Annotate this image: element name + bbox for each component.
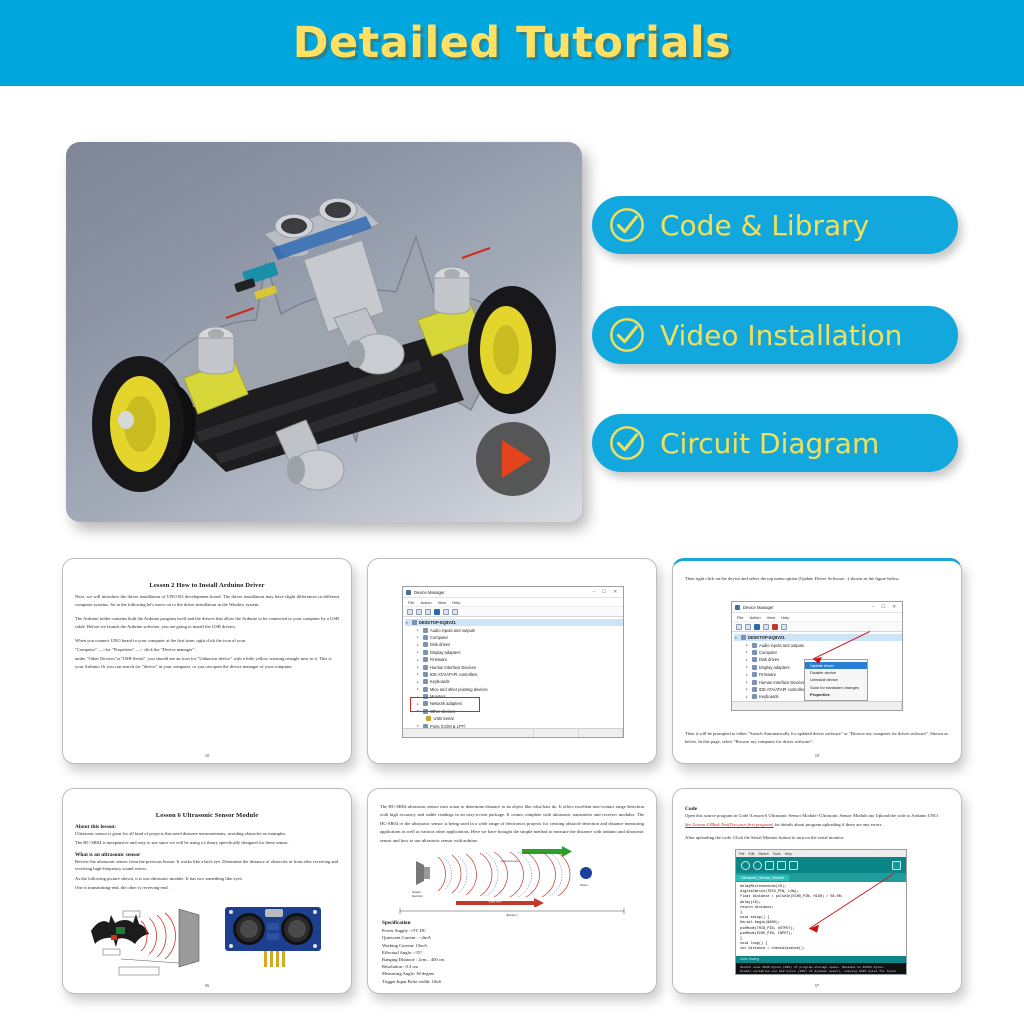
doc-link-line: See Lesson 4 Blink Test(Test your first … [685, 821, 949, 828]
device-manager-window: Device Manager – ☐ ✕ File Action View He… [731, 601, 903, 711]
menu-help[interactable]: Help [781, 615, 789, 620]
new-icon[interactable] [765, 861, 774, 870]
tree-item[interactable]: ▸Audio inputs and outputs [737, 641, 902, 648]
minimize-icon[interactable]: – [593, 589, 595, 595]
spec-item: Effectual Angle: <15° [382, 949, 582, 956]
doc-paragraph: The HC-SR04 is inexpensive and easy to u… [75, 839, 339, 846]
scan-icon[interactable] [434, 609, 440, 615]
context-menu-item-uninstall-device[interactable]: Uninstall device [805, 676, 867, 683]
doc-paragraph: under "Other Devices"or"USB-Serial", you… [75, 655, 339, 670]
doc-hyperlink[interactable]: See Lesson 4 Blink Test(Test your first … [685, 822, 773, 827]
bat-echolocation-figure [83, 901, 203, 979]
page-number: 19 [673, 753, 961, 758]
maximize-icon[interactable]: ☐ [602, 589, 606, 595]
spec-item: Resolution : 0.3 cm [382, 963, 582, 970]
status-bar [403, 728, 623, 737]
device-manager-icon [735, 605, 740, 610]
check-circle-icon [608, 206, 646, 244]
doc-paragraph: One is transmitting-end, the other is re… [75, 884, 339, 891]
update-icon[interactable] [443, 609, 449, 615]
doc-paragraph: Next, we will introduce the driver insta… [75, 593, 339, 610]
console-line: Global variables use 212 bytes (10%) of … [740, 969, 902, 975]
category-icon [423, 672, 428, 677]
header-banner: Detailed Tutorials [0, 0, 1024, 86]
properties-icon[interactable] [425, 609, 431, 615]
menu-action[interactable]: Action [420, 600, 431, 605]
context-menu[interactable]: Update driver Disable device Uninstall d… [804, 659, 868, 701]
doc-title: Lesson 2 How to Install Arduino Driver [75, 582, 339, 589]
category-icon [752, 657, 757, 662]
category-icon [423, 665, 428, 670]
feature-button-code-library[interactable]: Code & Library [592, 196, 958, 254]
tree-item-other-devices[interactable]: ▾Other devices [408, 708, 623, 715]
menu-action[interactable]: Action [749, 615, 760, 620]
category-icon [423, 701, 428, 706]
ide-tab-row[interactable]: Ultrasonic_Sensor_Module [736, 873, 906, 882]
maximize-icon[interactable]: ☐ [881, 604, 885, 610]
ide-menu-bar[interactable]: File Edit Sketch Tools Help [736, 850, 906, 857]
play-icon [502, 440, 532, 478]
minimize-icon[interactable]: – [872, 604, 874, 610]
hc-sr04-module-photo [223, 901, 323, 971]
toolbar[interactable] [732, 622, 902, 632]
feature-button-video-installation[interactable]: Video Installation [592, 306, 958, 364]
doc-paragraph: The Arduino folder contains both the Ard… [75, 615, 339, 632]
feature-button-circuit-diagram[interactable]: Circuit Diagram [592, 414, 958, 472]
product-render-panel [66, 142, 582, 522]
context-menu-item-scan-hardware[interactable]: Scan for hardware changes [805, 684, 867, 691]
play-button[interactable] [476, 422, 550, 496]
upload-icon[interactable] [753, 861, 762, 870]
check-circle-icon [608, 424, 646, 462]
device-manager-icon [406, 590, 411, 595]
tree-item[interactable]: ▸Disk drives [408, 641, 623, 648]
window-title: Device Manager [414, 590, 445, 595]
category-icon [752, 694, 757, 699]
window-controls[interactable]: – ☐ ✕ [593, 589, 620, 595]
page-number: 57 [673, 983, 961, 988]
menu-bar[interactable]: File Action View Help [732, 613, 902, 622]
tree-item[interactable]: ▸Mice and other pointing devices [408, 686, 623, 693]
tree-item[interactable]: ▸Computer [737, 649, 902, 656]
serial-monitor-icon[interactable] [892, 861, 901, 870]
category-icon [752, 687, 757, 692]
doc-title: Lesson 6 Ultrasonic Sensor Module [75, 812, 339, 819]
menu-help[interactable]: Help [452, 600, 460, 605]
tutorial-page-card[interactable]: Device Manager – ☐ ✕ File Action View He… [367, 558, 657, 764]
back-icon[interactable] [407, 609, 413, 615]
window-controls[interactable]: – ☐ ✕ [872, 604, 899, 610]
tree-item[interactable]: ▸Keyboards [408, 678, 623, 685]
open-icon[interactable] [777, 861, 786, 870]
device-manager-window: Device Manager – ☐ ✕ File Action View He… [402, 586, 624, 738]
svg-text:Receiver: Receiver [412, 894, 423, 898]
spec-item: Trigger Input Pulse width: 10uS [382, 978, 582, 985]
spec-item: Working Current: 15mA [382, 942, 582, 949]
category-icon [423, 635, 428, 640]
category-icon [752, 650, 757, 655]
category-icon [423, 694, 428, 699]
feature-label: Video Installation [660, 319, 902, 352]
spec-item: Power Supply :+5V DC [382, 927, 582, 934]
doc-link-suffix: for details about program uploading if t… [775, 822, 883, 827]
doc-paragraph: The HC-SR04 ultrasonic sensor uses sonar… [380, 803, 644, 845]
computer-icon [412, 620, 417, 625]
category-icon [752, 672, 757, 677]
doc-paragraph: Then it will be prompted to either "Sear… [685, 730, 949, 745]
svg-text:sound wave: sound wave [488, 901, 502, 904]
save-icon[interactable] [789, 861, 798, 870]
computer-icon [741, 635, 746, 640]
doc-paragraph: Then right click on the device and selec… [685, 575, 949, 582]
category-icon [423, 679, 428, 684]
tree-item[interactable]: ▸Audio inputs and outputs [408, 626, 623, 633]
tree-item[interactable]: ▸Human Interface Devices [408, 663, 623, 670]
ide-status-label: Done Saving. [736, 956, 906, 963]
doc-paragraph: Ultrasonic sensor is great for all kind … [75, 830, 339, 837]
ide-code-editor[interactable]: delayMicroseconds(10); digitalWrite(TRIG… [736, 882, 906, 956]
menu-view[interactable]: View [767, 615, 776, 620]
spec-item: Ranging Distance : 2cm – 400 cm [382, 956, 582, 963]
ide-menu-edit[interactable]: Edit [748, 852, 754, 856]
category-icon [752, 643, 757, 648]
doc-paragraph: As the following picture shown, it is ou… [75, 875, 339, 882]
arduino-ide-window: File Edit Sketch Tools Help Ultrasonic_S… [735, 849, 907, 975]
device-tree[interactable]: ▾ DESKTOP-EQ8VZ1 ▸Audio inputs and outpu… [403, 617, 623, 738]
doc-paragraph: "Computer" —>for "Properties" —> click t… [75, 646, 339, 653]
view-icon[interactable] [781, 624, 787, 630]
warning-device-icon [426, 716, 431, 721]
tutorial-page-card[interactable]: The HC-SR04 ultrasonic sensor uses sonar… [367, 788, 657, 994]
menu-file[interactable]: File [737, 615, 743, 620]
spec-item: Measuring Angle: 30 degree [382, 970, 582, 977]
specification-block: Specification Power Supply :+5V DC Quies… [382, 919, 582, 985]
doc-paragraph: After uploading the code. Click the Seri… [685, 834, 949, 841]
page-number: 56 [63, 983, 351, 988]
tutorial-page-card[interactable]: Lesson 2 How to Install Arduino Driver N… [62, 558, 352, 764]
feature-label: Circuit Diagram [660, 427, 879, 460]
category-icon [752, 680, 757, 685]
window-titlebar: Device Manager – ☐ ✕ [732, 602, 902, 613]
tutorial-page-card[interactable]: Code Open this source program in Code>Le… [672, 788, 962, 994]
close-icon[interactable]: ✕ [892, 604, 896, 610]
ide-menu-help[interactable]: Help [785, 852, 792, 856]
menu-file[interactable]: File [408, 600, 414, 605]
tree-item[interactable]: ▸Firmware [408, 656, 623, 663]
tree-item[interactable]: ▸Monitors [408, 693, 623, 700]
scan-icon[interactable] [763, 624, 769, 630]
doc-paragraph: Review the ultrasonic sensor from the pr… [75, 858, 339, 873]
feature-label: Code & Library [660, 209, 869, 242]
back-icon[interactable] [736, 624, 742, 630]
category-icon [423, 642, 428, 647]
ide-menu-sketch[interactable]: Sketch [758, 852, 768, 856]
tree-item[interactable]: ▸Print queues [408, 737, 623, 738]
status-bar [732, 701, 902, 710]
window-titlebar: Device Manager – ☐ ✕ [403, 587, 623, 598]
spec-item: Quiescent Current : <2mA [382, 934, 582, 941]
page-number: 10 [63, 753, 351, 758]
window-title: Device Manager [743, 605, 774, 610]
category-icon [752, 665, 757, 670]
check-circle-icon [608, 316, 646, 354]
doc-paragraph: Open this source program in Code>Lesson … [685, 812, 949, 819]
distance-axis: distance ? [394, 907, 632, 917]
close-icon[interactable]: ✕ [613, 589, 617, 595]
ide-toolbar[interactable] [736, 857, 906, 873]
tree-item-usb-serial[interactable]: USB Serial [408, 715, 623, 722]
properties-icon[interactable] [754, 624, 760, 630]
tutorial-page-card[interactable]: Lesson 6 Ultrasonic Sensor Module About … [62, 788, 352, 994]
ide-menu-tools[interactable]: Tools [773, 852, 781, 856]
menu-view[interactable]: View [438, 600, 447, 605]
page-title: Detailed Tutorials [293, 18, 731, 68]
context-menu-item-properties[interactable]: Properties [805, 691, 867, 698]
svg-text:Object: Object [580, 883, 588, 887]
context-menu-item-disable-device[interactable]: Disable device [805, 669, 867, 676]
category-icon [423, 687, 428, 692]
svg-text:distance ?: distance ? [506, 913, 519, 917]
context-menu-item-update-driver[interactable]: Update driver [805, 662, 867, 669]
tutorial-page-card[interactable]: Then right click on the device and selec… [672, 558, 962, 764]
forward-icon[interactable] [416, 609, 422, 615]
forward-icon[interactable] [745, 624, 751, 630]
tree-item[interactable]: ▸Display adapters [408, 649, 623, 656]
doc-paragraph: When you connect UNO board to your compu… [75, 637, 339, 644]
ultrasonic-wave-diagram: reflected wave Sender/ Receiver [394, 845, 632, 907]
tree-item[interactable]: ▸Computer [408, 634, 623, 641]
view-icon[interactable] [452, 609, 458, 615]
ide-menu-file[interactable]: File [739, 852, 744, 856]
category-icon [423, 628, 428, 633]
remove-icon[interactable] [772, 624, 778, 630]
toolbar[interactable] [403, 607, 623, 617]
tree-root[interactable]: ▾DESKTOP-EQ8VZ1 [734, 634, 902, 641]
category-icon [423, 650, 428, 655]
tree-item[interactable]: ▸IDE ATA/ATAPI controllers [408, 671, 623, 678]
verify-icon[interactable] [741, 861, 750, 870]
tree-item[interactable]: ▸Network adapters [408, 700, 623, 707]
spec-heading: Specification [382, 920, 411, 926]
ide-sketch-tab[interactable]: Ultrasonic_Sensor_Module [736, 875, 789, 881]
category-icon [423, 657, 428, 662]
tree-root[interactable]: ▾ DESKTOP-EQ8VZ1 [405, 619, 623, 626]
ide-console: Sketch uses 3236 bytes (10%) of program … [736, 963, 906, 975]
code-line: int distance = checkdistance(); [740, 947, 902, 952]
category-icon [423, 709, 428, 714]
menu-bar[interactable]: File Action View Help [403, 598, 623, 607]
